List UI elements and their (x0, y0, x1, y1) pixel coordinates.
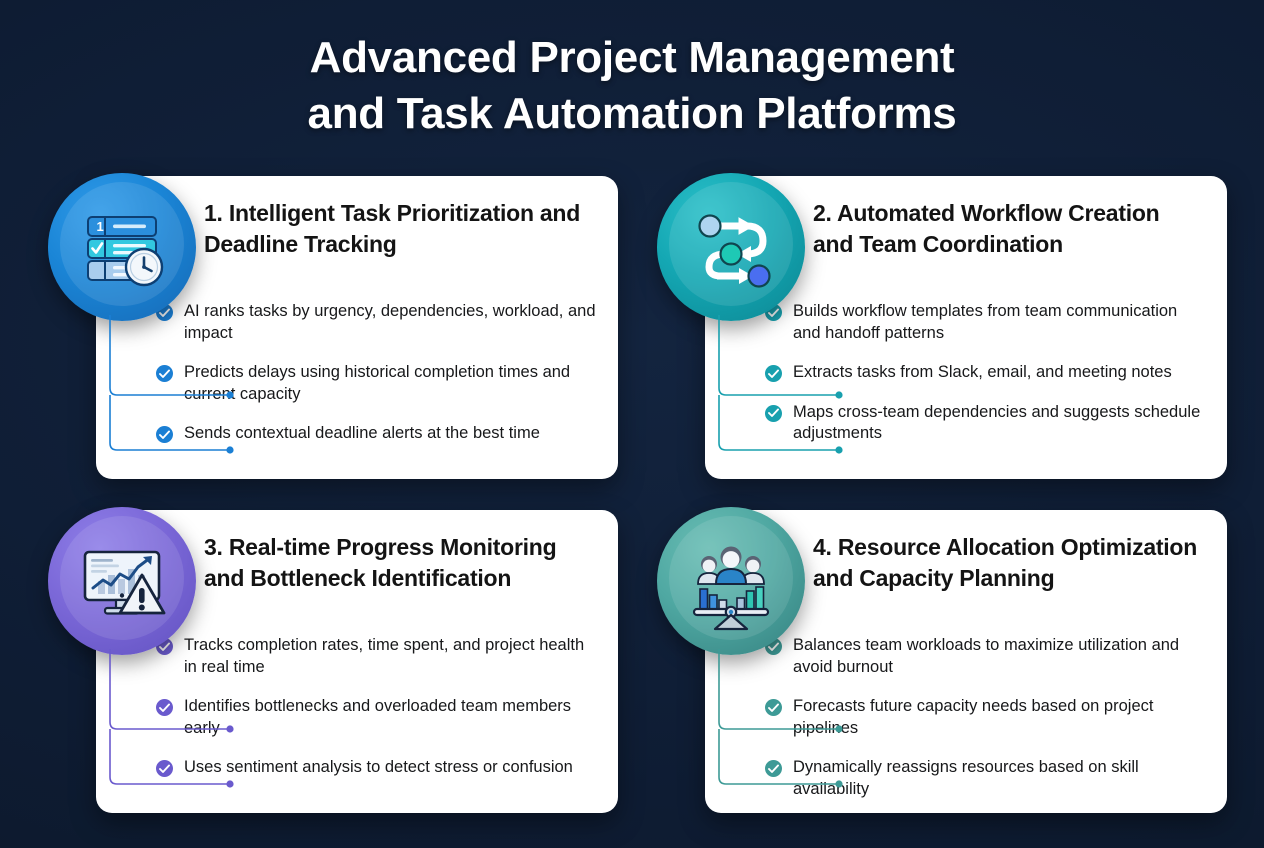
card-4-bullet-1: Balances team workloads to maximize util… (765, 635, 1209, 678)
title-line-2: and Task Automation Platforms (0, 86, 1264, 142)
card-4-bullet-2: Forecasts future capacity needs based on… (765, 696, 1209, 739)
card-1-icon-badge: 1 (48, 173, 196, 321)
card-2-bullet-1: Builds workflow templates from team comm… (765, 301, 1209, 344)
card-4-bullet-1-text: Balances team workloads to maximize util… (793, 635, 1209, 678)
check-circle-icon (765, 760, 782, 777)
card-3-bullet-2-text: Identifies bottlenecks and overloaded te… (184, 696, 600, 739)
card-3-bullets: Tracks completion rates, time spent, and… (156, 635, 600, 779)
card-1-heading-wrap: 1. Intelligent Task Prioritization and D… (204, 198, 594, 259)
card-2-bullet-3-text: Maps cross-team dependencies and suggest… (793, 402, 1209, 445)
card-3-icon-badge (48, 507, 196, 655)
check-circle-icon (156, 760, 173, 777)
card-3-bullet-1: Tracks completion rates, time spent, and… (156, 635, 600, 678)
svg-text:1: 1 (97, 219, 104, 234)
card-4: 4. Resource Allocation Optimization and … (657, 507, 1227, 813)
check-circle-icon (156, 426, 173, 443)
card-1: 1. Intelligent Task Prioritization and D… (48, 173, 618, 479)
card-4-bullets: Balances team workloads to maximize util… (765, 635, 1209, 800)
card-3-heading: 3. Real-time Progress Monitoring and Bot… (204, 532, 594, 593)
card-1-bullet-3-text: Sends contextual deadline alerts at the … (184, 423, 540, 445)
check-circle-icon (765, 405, 782, 422)
check-circle-icon (156, 365, 173, 382)
card-4-bullet-3: Dynamically reassigns resources based on… (765, 757, 1209, 800)
card-4-icon-badge (657, 507, 805, 655)
card-2-heading-wrap: 2. Automated Workflow Creation and Team … (813, 198, 1203, 259)
monitor-analytics-warning-icon (72, 531, 172, 631)
cards-grid: 1. Intelligent Task Prioritization and D… (0, 173, 1264, 833)
card-3-heading-wrap: 3. Real-time Progress Monitoring and Bot… (204, 532, 594, 593)
card-3-bullet-3-text: Uses sentiment analysis to detect stress… (184, 757, 573, 779)
card-2-bullet-2-text: Extracts tasks from Slack, email, and me… (793, 362, 1172, 384)
card-2: 2. Automated Workflow Creation and Team … (657, 173, 1227, 479)
card-2-icon-badge (657, 173, 805, 321)
card-1-bullet-1-text: AI ranks tasks by urgency, dependencies,… (184, 301, 600, 344)
card-2-bullet-1-text: Builds workflow templates from team comm… (793, 301, 1209, 344)
check-circle-icon (765, 365, 782, 382)
card-4-bullet-2-text: Forecasts future capacity needs based on… (793, 696, 1209, 739)
card-3: 3. Real-time Progress Monitoring and Bot… (48, 507, 618, 813)
card-2-bullet-3: Maps cross-team dependencies and suggest… (765, 402, 1209, 445)
card-4-heading-wrap: 4. Resource Allocation Optimization and … (813, 532, 1203, 593)
card-1-bullet-3: Sends contextual deadline alerts at the … (156, 423, 600, 445)
card-2-bullet-2: Extracts tasks from Slack, email, and me… (765, 362, 1209, 384)
task-list-clock-icon: 1 (72, 197, 172, 297)
card-1-bullet-1: AI ranks tasks by urgency, dependencies,… (156, 301, 600, 344)
card-3-bullet-2: Identifies bottlenecks and overloaded te… (156, 696, 600, 739)
workflow-arrows-icon (681, 197, 781, 297)
title-line-1: Advanced Project Management (0, 30, 1264, 86)
card-1-bullet-2: Predicts delays using historical complet… (156, 362, 600, 405)
card-4-heading: 4. Resource Allocation Optimization and … (813, 532, 1203, 593)
card-2-bullets: Builds workflow templates from team comm… (765, 301, 1209, 445)
check-circle-icon (156, 699, 173, 716)
card-1-heading: 1. Intelligent Task Prioritization and D… (204, 198, 594, 259)
card-2-heading: 2. Automated Workflow Creation and Team … (813, 198, 1203, 259)
check-circle-icon (765, 699, 782, 716)
card-4-bullet-3-text: Dynamically reassigns resources based on… (793, 757, 1209, 800)
card-1-bullets: AI ranks tasks by urgency, dependencies,… (156, 301, 600, 445)
card-1-bullet-2-text: Predicts delays using historical complet… (184, 362, 600, 405)
infographic-page: Advanced Project Management and Task Aut… (0, 0, 1264, 848)
page-title: Advanced Project Management and Task Aut… (0, 30, 1264, 142)
team-balance-scale-icon (681, 531, 781, 631)
card-3-bullet-1-text: Tracks completion rates, time spent, and… (184, 635, 600, 678)
card-3-bullet-3: Uses sentiment analysis to detect stress… (156, 757, 600, 779)
